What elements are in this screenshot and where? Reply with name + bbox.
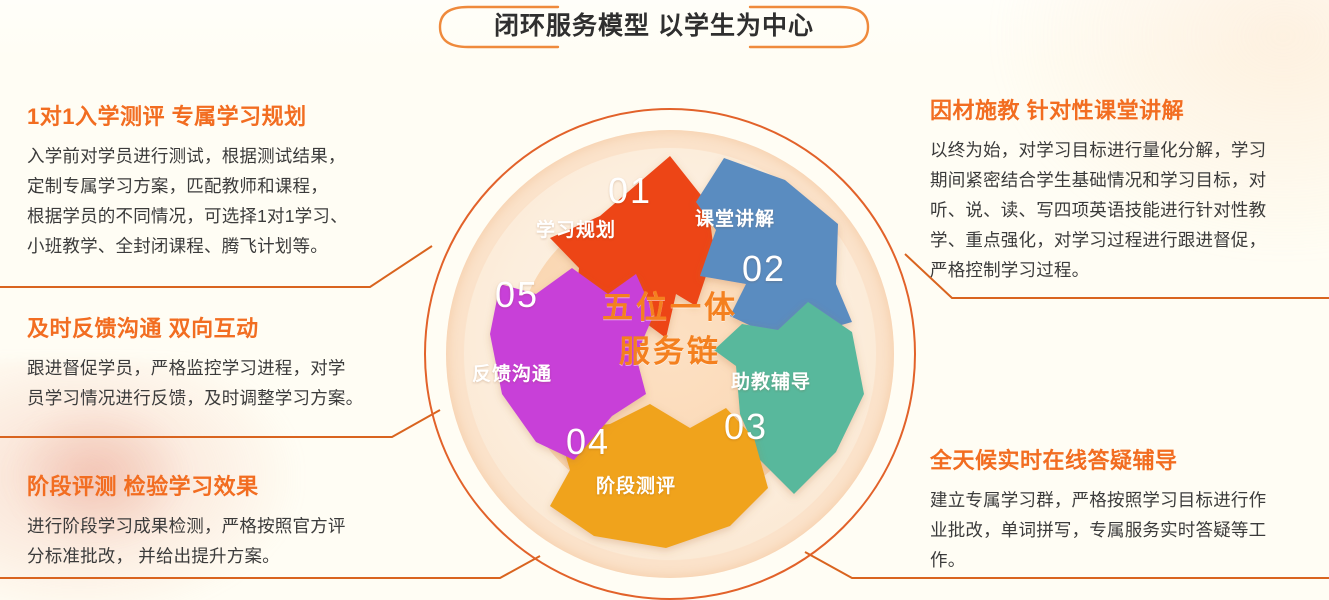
body-line: 期间紧密结合学生基础情况和学习目标，对 [930,170,1266,190]
body-line: 学、重点强化，对学习过程进行跟进督促， [930,230,1266,250]
body-line: 跟进督促学员，严格监控学习进程，对学 [27,358,346,378]
text-block-online-qa-support: 全天候实时在线答疑辅导 建立专属学习群，严格按照学习目标进行作 业批改，单词拼写… [930,447,1280,575]
segment-04-label: 阶段测评 [596,471,676,498]
block-body: 建立专属学习群，严格按照学习目标进行作 业批改，单词拼写，专属服务实时答疑等工 … [930,485,1280,575]
page-title: 闭环服务模型 以学生为中心 [438,9,870,43]
segment-04-number: 04 [566,421,610,463]
body-line: 分标准批改， 并给出提升方案。 [27,546,280,566]
text-block-stage-evaluation: 阶段评测 检验学习效果 进行阶段学习成果检测，严格按照官方评 分标准批改， 并给… [27,473,417,571]
block-heading: 阶段评测 检验学习效果 [27,473,417,501]
segment-05-number: 05 [495,274,539,316]
block-body: 以终为始，对学习目标进行量化分解，学习 期间紧密结合学生基础情况和学习目标，对 … [930,135,1290,285]
body-line: 根据学员的不同情况，可选择1对1学习、 [27,206,348,226]
body-line: 作。 [930,550,965,570]
diagram-center-text: 五位一体 服务链 [550,286,790,374]
service-cycle-diagram: 01 学习规划 02 课堂讲解 03 助教辅导 04 阶段测评 05 反馈沟通 … [424,108,916,600]
segment-05-label: 反馈沟通 [472,359,552,386]
body-line: 听、说、读、写四项英语技能进行针对性教 [930,200,1266,220]
segment-02-number: 02 [742,248,786,290]
segment-01-label: 学习规划 [536,215,616,242]
segment-01-number: 01 [608,170,652,212]
block-body: 跟进督促学员，严格监控学习进程，对学 员学习情况进行反馈，及时调整学习方案。 [27,353,402,413]
body-line: 以终为始，对学习目标进行量化分解，学习 [930,140,1266,160]
block-heading: 全天候实时在线答疑辅导 [930,447,1280,475]
infographic-page: 闭环服务模型 以学生为中心 1对1入学测评 专属学习规划 入学前对学员进行测试，… [0,0,1329,600]
block-heading: 因材施教 针对性课堂讲解 [930,97,1290,125]
header: 闭环服务模型 以学生为中心 [0,0,1329,62]
body-line: 小班教学、全封闭课程、腾飞计划等。 [27,236,328,256]
body-line: 入学前对学员进行测试，根据测试结果， [27,146,346,166]
block-heading: 及时反馈沟通 双向互动 [27,315,402,343]
text-block-entrance-assessment: 1对1入学测评 专属学习规划 入学前对学员进行测试，根据测试结果， 定制专属学习… [27,103,427,261]
text-block-feedback-communication: 及时反馈沟通 双向互动 跟进督促学员，严格监控学习进程，对学 员学习情况进行反馈… [27,315,402,413]
connector-left-middle [0,410,440,437]
body-line: 业批改，单词拼写，专属服务实时答疑等工 [930,520,1266,540]
body-line: 进行阶段学习成果检测，严格按照官方评 [27,516,346,536]
block-body: 入学前对学员进行测试，根据测试结果， 定制专属学习方案，匹配教师和课程， 根据学… [27,141,427,261]
body-line: 员学习情况进行反馈，及时调整学习方案。 [27,388,363,408]
body-line: 建立专属学习群，严格按照学习目标进行作 [930,490,1266,510]
segment-03-number: 03 [724,406,768,448]
body-line: 严格控制学习过程。 [930,260,1089,280]
block-body: 进行阶段学习成果检测，严格按照官方评 分标准批改， 并给出提升方案。 [27,511,417,571]
segment-02-label: 课堂讲解 [695,204,775,231]
block-heading: 1对1入学测评 专属学习规划 [27,103,427,131]
center-text-line-2: 服务链 [550,330,790,374]
center-text-line-1: 五位一体 [550,286,790,330]
text-block-tailored-teaching: 因材施教 针对性课堂讲解 以终为始，对学习目标进行量化分解，学习 期间紧密结合学… [930,97,1290,285]
body-line: 定制专属学习方案，匹配教师和课程， [27,176,328,196]
